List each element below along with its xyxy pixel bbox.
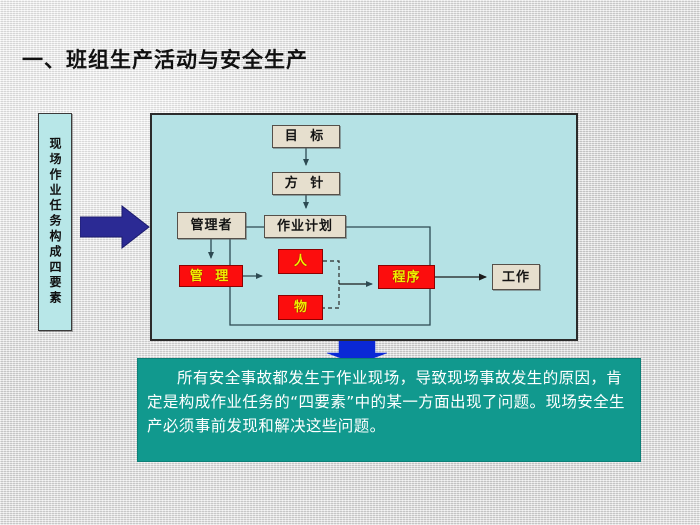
node-people: 人	[278, 249, 323, 274]
node-program-label: 程序	[392, 271, 420, 284]
node-manager-label: 管理者	[190, 219, 232, 232]
slide-canvas: 一、班组生产活动与安全生产 现场作业任务构成四要素	[0, 0, 700, 525]
node-people-label: 人	[294, 255, 307, 268]
diagram-panel: 目 标 方 针 作业计划 管理者 管 理 人 物 程序 工作	[150, 113, 578, 341]
node-goal-label: 目 标	[285, 130, 328, 143]
conclusion-box: 所有安全事故都发生于作业现场，导致现场事故发生的原因，肯定是构成作业任务的“四要…	[137, 358, 641, 462]
node-work-plan: 作业计划	[264, 215, 346, 238]
node-manager: 管理者	[177, 212, 246, 239]
node-management: 管 理	[179, 265, 243, 287]
node-work-plan-label: 作业计划	[277, 220, 333, 233]
node-policy-label: 方 针	[285, 177, 328, 190]
node-work: 工作	[492, 264, 540, 290]
node-things: 物	[278, 295, 323, 320]
page-title: 一、班组生产活动与安全生产	[22, 44, 308, 74]
vertical-caption-box: 现场作业任务构成四要素	[38, 113, 72, 331]
node-policy: 方 针	[272, 172, 340, 195]
node-program: 程序	[378, 265, 435, 289]
node-management-label: 管 理	[190, 270, 233, 283]
node-goal: 目 标	[272, 125, 340, 148]
vertical-caption-label: 现场作业任务构成四要素	[49, 137, 61, 306]
conclusion-text: 所有安全事故都发生于作业现场，导致现场事故发生的原因，肯定是构成作业任务的“四要…	[147, 366, 631, 438]
node-work-label: 工作	[502, 271, 530, 284]
node-things-label: 物	[294, 301, 307, 314]
blue-right-arrow-icon	[80, 204, 150, 250]
